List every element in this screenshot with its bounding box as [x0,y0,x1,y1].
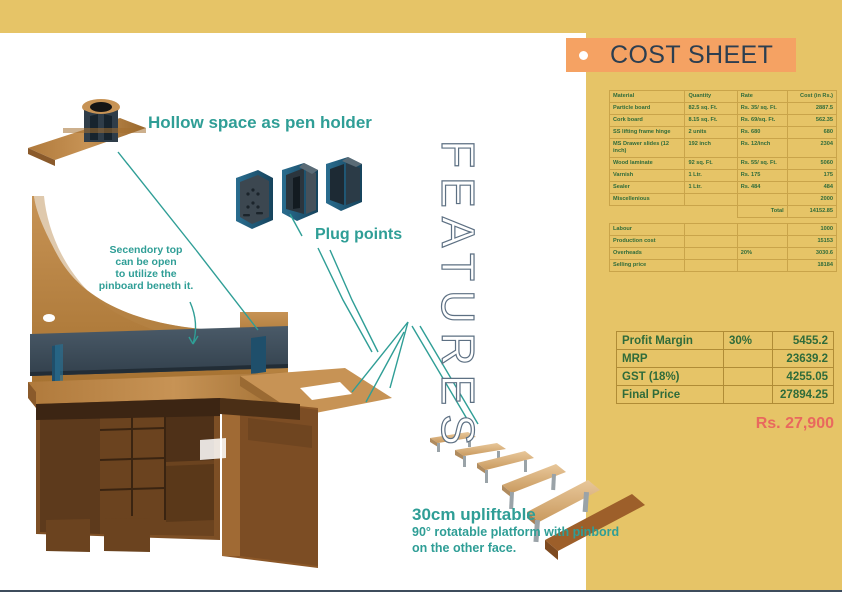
table-row: MS Drawer slides (12 inch)192 inchRs. 12… [610,138,837,157]
cell-rate: Rs. 12/inch [737,138,787,157]
annotation-pen-holder: Hollow space as pen holder [148,113,372,133]
cell-cost: 175 [787,169,836,181]
uplift-step-2 [455,443,506,467]
cost-sheet-header: COST SHEET [566,38,796,72]
cell-summary-label: Final Price [617,386,724,404]
cell-material: Miscellenious [610,193,685,205]
cell-extra-rate [737,223,787,235]
annotation-secondary-top-line4: pinboard beneth it. [96,280,196,292]
cell-summary-value: 4255.05 [773,368,834,386]
cell-extra-value: 18184 [787,259,836,271]
col-header-quantity: Quantity [685,91,737,103]
table-header-row: Material Quantity Rate Cost (in Rs.) [610,91,837,103]
poster-page: FEATURES Hollow space as pen holder Sece… [0,0,842,597]
cell-extra-value: 1000 [787,223,836,235]
cell-rate: Rs. 55/ sq. Ft. [737,157,787,169]
table-row: Overheads20%3030.6 [610,247,837,259]
annotation-upliftable-title: 30cm upliftable [412,505,536,525]
summary-row-gst: GST (18%) 4255.05 [617,368,834,386]
cell-cost: 5060 [787,157,836,169]
cell-summary-label: GST (18%) [617,368,724,386]
table-row: Selling price18184 [610,259,837,271]
col-header-rate: Rate [737,91,787,103]
cell-cost: 562.35 [787,114,836,126]
cell-extra-mid [685,247,737,259]
cell-summary-pct [724,386,773,404]
cell-blank [610,205,685,217]
annotation-secondary-top: Secendory top can be open to utilize the… [96,244,196,292]
summary-row-mrp: MRP 23639.2 [617,350,834,368]
table-row: Particle board82.5 sq. Ft.Rs. 35/ sq. Ft… [610,102,837,114]
col-header-cost: Cost (in Rs.) [787,91,836,103]
annotation-plug-points: Plug points [315,226,402,244]
desk-slate-bar [30,326,288,393]
cell-extra-mid [685,223,737,235]
cell-material: Varnish [610,169,685,181]
table-row: Sealer1 Ltr.Rs. 484484 [610,181,837,193]
cell-blank [685,205,737,217]
cell-material: Wood laminate [610,157,685,169]
cell-extra-rate: 20% [737,247,787,259]
annotation-secondary-top-line1: Secendory top [96,244,196,256]
final-price-callout: Rs. 27,900 [616,415,834,433]
desk-back-panel [30,196,290,400]
page-title: COST SHEET [610,41,773,70]
cell-summary-pct: 30% [724,332,773,350]
cell-rate: Rs. 35/ sq. Ft. [737,102,787,114]
cell-total-value: 14152.85 [787,205,836,217]
right-yellow-panel [586,0,842,590]
pen-holder-detail [28,99,146,166]
cell-material: SS lifting frame hinge [610,126,685,138]
cell-quantity: 1 Ltr. [685,181,737,193]
cell-rate: Rs. 175 [737,169,787,181]
uplift-step-3 [477,451,534,483]
price-summary-table: Profit Margin 30% 5455.2 MRP 23639.2 GST… [616,331,834,404]
cell-extra-mid [685,259,737,271]
bullet-dot-icon [579,51,588,60]
cell-rate: Rs. 680 [737,126,787,138]
table-row: SS lifting frame hinge2 unitsRs. 680680 [610,126,837,138]
table-row: Miscellenious2000 [610,193,837,205]
cell-material: Particle board [610,102,685,114]
cell-summary-label: MRP [617,350,724,368]
cell-extra-rate [737,235,787,247]
cell-summary-label: Profit Margin [617,332,724,350]
cell-cost: 484 [787,181,836,193]
cell-cost: 2304 [787,138,836,157]
cell-quantity [685,193,737,205]
cell-cost: 2887.5 [787,102,836,114]
cell-extra-mid [685,235,737,247]
cell-extra-label: Labour [610,223,685,235]
cell-summary-value: 27894.25 [773,386,834,404]
annotation-upliftable-sub-line1: 90° rotatable platform with pinbord [412,524,619,540]
table-row: Labour1000 [610,223,837,235]
cell-material: MS Drawer slides (12 inch) [610,138,685,157]
annotation-secondary-top-line3: to utilize the [96,268,196,280]
cell-rate: Rs. 69/sq. Ft. [737,114,787,126]
annotation-secondary-top-line2: can be open [96,256,196,268]
uplift-step-1 [430,432,476,452]
cell-summary-value: 23639.2 [773,350,834,368]
cost-breakdown-table: Material Quantity Rate Cost (in Rs.) Par… [609,90,837,272]
cell-rate: Rs. 484 [737,181,787,193]
cell-quantity: 82.5 sq. Ft. [685,102,737,114]
uplift-step-4 [502,464,566,509]
summary-row-profit-margin: Profit Margin 30% 5455.2 [617,332,834,350]
desk-cabinet [36,398,318,568]
features-watermark: FEATURES [431,140,485,440]
cell-rate [737,193,787,205]
cell-extra-value: 15153 [787,235,836,247]
table-row: Cork board8.15 sq. Ft.Rs. 69/sq. Ft.562.… [610,114,837,126]
cell-quantity: 8.15 sq. Ft. [685,114,737,126]
plug-point-socket-2-open [282,163,318,221]
table-row-total: Total 14152.85 [610,205,837,217]
bottom-divider-rule [0,590,842,592]
cell-quantity: 2 units [685,126,737,138]
cell-cost: 680 [787,126,836,138]
cell-summary-value: 5455.2 [773,332,834,350]
cell-quantity: 1 Ltr. [685,169,737,181]
cell-extra-value: 3030.6 [787,247,836,259]
table-row: Wood laminate92 sq. Ft.Rs. 55/ sq. Ft.50… [610,157,837,169]
annotation-upliftable-subtext: 90° rotatable platform with pinbord on t… [412,524,619,556]
table-row: Production cost15153 [610,235,837,247]
cell-extra-label: Overheads [610,247,685,259]
summary-row-final-price: Final Price 27894.25 [617,386,834,404]
col-header-material: Material [610,91,685,103]
cell-extra-label: Production cost [610,235,685,247]
cell-material: Sealer [610,181,685,193]
table-row: Varnish1 Ltr.Rs. 175175 [610,169,837,181]
plug-point-socket-3-closed [326,157,362,211]
cell-total-label: Total [737,205,787,217]
cell-material: Cork board [610,114,685,126]
annotation-upliftable-sub-line2: on the other face. [412,540,619,556]
plug-point-socket-1 [236,170,273,229]
cell-extra-rate [737,259,787,271]
cell-quantity: 92 sq. Ft. [685,157,737,169]
cell-cost: 2000 [787,193,836,205]
desk-top-surface [28,368,392,424]
cell-summary-pct [724,368,773,386]
cell-extra-label: Selling price [610,259,685,271]
cell-summary-pct [724,350,773,368]
cell-quantity: 192 inch [685,138,737,157]
